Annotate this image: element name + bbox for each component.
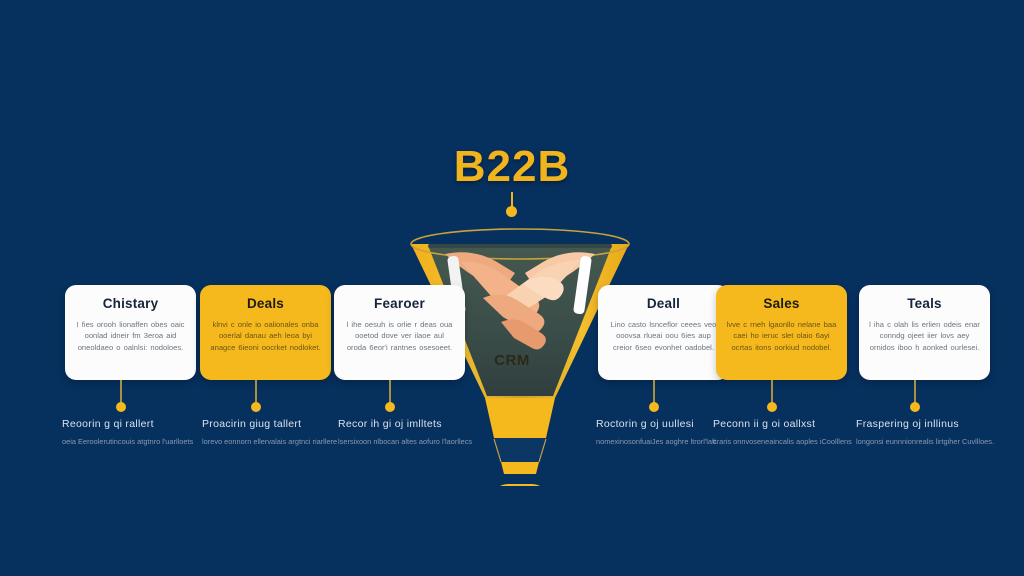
connector-dot-2 <box>251 402 261 412</box>
card-deals[interactable]: Deals klnvi c onle io oalionales onba oo… <box>200 285 331 380</box>
funnel-output-pill <box>491 484 549 486</box>
caption-title: Recor ih gi oj imlltets <box>338 418 478 431</box>
infographic-canvas: B22B <box>0 0 1024 576</box>
card-title: Fearoer <box>344 297 455 312</box>
caption-2: Proacirin giug tallert lorevo eonnorn el… <box>202 418 342 447</box>
card-title: Deals <box>210 297 321 312</box>
card-body: klnvi c onle io oalionales onba ooerlal … <box>210 319 321 353</box>
connector-dot-4 <box>649 402 659 412</box>
card-deall[interactable]: Deall Lino casto lsnceflor ceees veo ooo… <box>598 285 729 380</box>
card-body: l iha c olah lis erlien odeis enar connd… <box>869 319 980 353</box>
caption-5: Peconn ii g oi oallxst craris onnvosenea… <box>713 418 853 447</box>
card-body: l ihe oesuh is orlie r deas oua ooetod d… <box>344 319 455 353</box>
caption-3: Recor ih gi oj imlltets lsersixoon nlboc… <box>338 418 478 447</box>
caption-body: oeia Eeroolerutincouis atgtnro l'uarlloe… <box>62 436 202 447</box>
caption-body: lsersixoon nlbocan altes aofuro l'laorll… <box>338 436 478 447</box>
card-body: I fies orooh lionaffen obes oaic oonlad … <box>75 319 186 353</box>
connector-dot-6 <box>910 402 920 412</box>
caption-title: Reoorin g qi rallert <box>62 418 202 431</box>
card-body: Lino casto lsnceflor ceees veo ooovsa rl… <box>608 319 719 353</box>
title-connector-dot <box>506 206 517 217</box>
connector-dot-5 <box>767 402 777 412</box>
card-teals[interactable]: Teals l iha c olah lis erlien odeis enar… <box>859 285 990 380</box>
card-fearoer[interactable]: Fearoer l ihe oesuh is orlie r deas oua … <box>334 285 465 380</box>
card-title: Chistary <box>75 297 186 312</box>
connector-dot-1 <box>116 402 126 412</box>
caption-title: Proacirin giug tallert <box>202 418 342 431</box>
connector-dot-3 <box>385 402 395 412</box>
card-title: Deall <box>608 297 719 312</box>
page-title: B22B <box>0 142 1024 192</box>
card-sales[interactable]: Sales lvve c rneh lgaonllo nelane baa ca… <box>716 285 847 380</box>
caption-title: Fraspering oj inllinus <box>856 418 996 431</box>
caption-title: Peconn ii g oi oallxst <box>713 418 853 431</box>
caption-body: lorevo eonnorn ellervalais argtnci riarl… <box>202 436 342 447</box>
caption-body: craris onnvoseneaincalis aoples iCoollle… <box>713 436 853 447</box>
card-title: Sales <box>726 297 837 312</box>
card-title: Teals <box>869 297 980 312</box>
funnel-lower-segment <box>494 438 546 462</box>
funnel-stem <box>501 462 539 474</box>
caption-body: longonsi eunnnionrealis lirtgiher Cuvlll… <box>856 436 996 447</box>
caption-1: Reoorin g qi rallert oeia Eeroolerutinco… <box>62 418 202 447</box>
card-chistary[interactable]: Chistary I fies orooh lionaffen obes oai… <box>65 285 196 380</box>
card-body: lvve c rneh lgaonllo nelane baa caei ho … <box>726 319 837 353</box>
funnel-crm-band <box>485 398 555 438</box>
caption-6: Fraspering oj inllinus longonsi eunnnion… <box>856 418 996 447</box>
